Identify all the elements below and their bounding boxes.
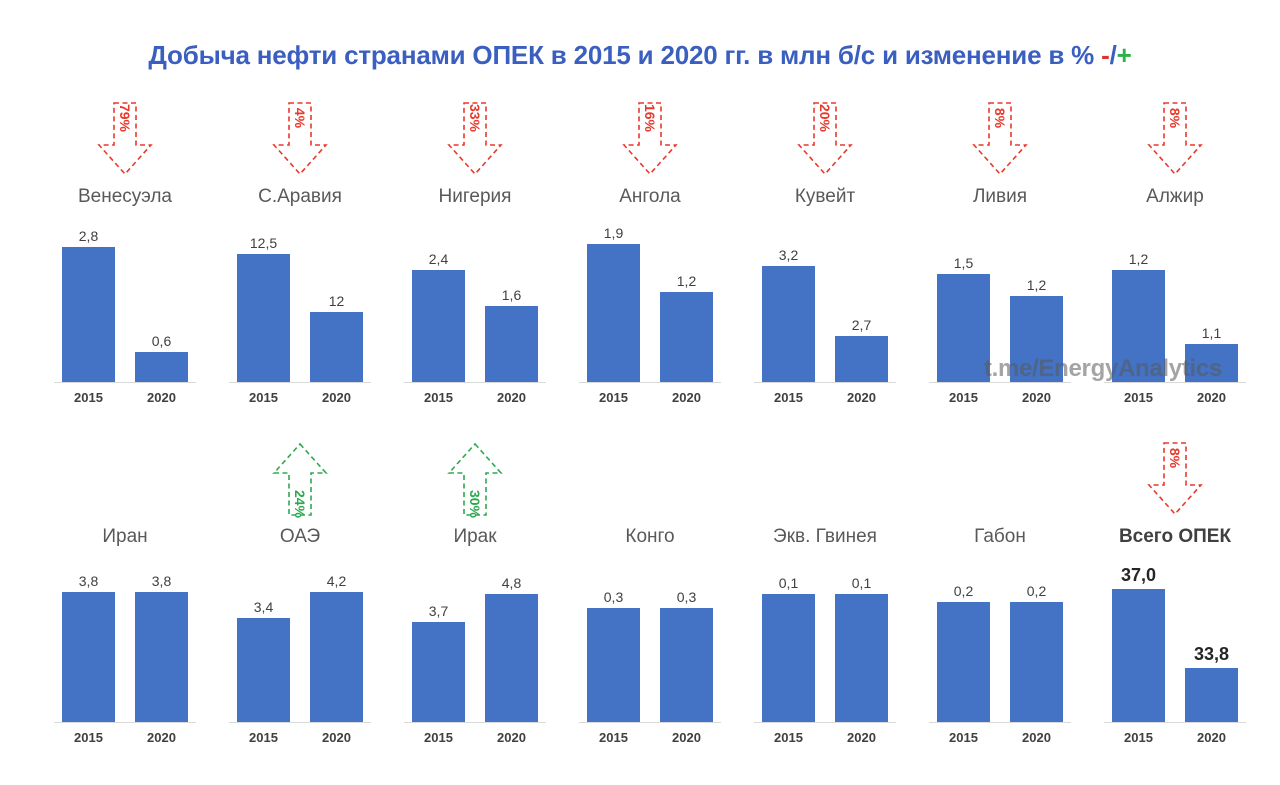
- mini-bar-chart: 3,74,8: [404, 558, 546, 723]
- axis-baseline: [54, 722, 196, 723]
- bar-2020[interactable]: [310, 312, 363, 382]
- year-label-2020: 2020: [660, 390, 713, 405]
- mini-bar-chart: 0,20,2: [929, 558, 1071, 723]
- bar-2020[interactable]: [485, 306, 538, 382]
- bar-value-label: 1,5: [925, 255, 1002, 271]
- country-name: Конго: [565, 526, 735, 548]
- mini-bar-chart: 3,44,2: [229, 558, 371, 723]
- year-label-2020: 2020: [135, 390, 188, 405]
- mini-bar-chart: 2,80,6: [54, 218, 196, 383]
- bar-value-label: 0,3: [575, 589, 652, 605]
- year-label-2015: 2015: [237, 730, 290, 745]
- year-label-2020: 2020: [485, 730, 538, 745]
- bar-2020[interactable]: [835, 336, 888, 382]
- country-panel: Экв. Гвинея0,10,120152020: [740, 440, 910, 770]
- year-label-2015: 2015: [412, 730, 465, 745]
- bar-2015[interactable]: [1112, 589, 1165, 722]
- title-positive-marker: +: [1117, 40, 1132, 70]
- title-separator: /: [1110, 40, 1117, 70]
- bar-value-label: 1,2: [998, 277, 1075, 293]
- bar-2015[interactable]: [762, 266, 815, 382]
- year-label-2015: 2015: [587, 730, 640, 745]
- country-panel: 30%Ирак3,74,820152020: [390, 440, 560, 770]
- arrow-up-icon: 24%: [269, 440, 331, 518]
- country-panel: 4%С.Аравия12,51220152020: [215, 100, 385, 430]
- year-label-2020: 2020: [485, 390, 538, 405]
- bar-value-label: 1,2: [648, 273, 725, 289]
- year-axis: 20152020: [754, 730, 896, 748]
- arrow-down-icon: 4%: [269, 100, 331, 178]
- country-name: Габон: [915, 526, 1085, 548]
- year-label-2015: 2015: [62, 730, 115, 745]
- mini-bar-chart: 3,83,8: [54, 558, 196, 723]
- country-panel: 8%Алжир1,21,120152020: [1090, 100, 1260, 430]
- axis-baseline: [579, 382, 721, 383]
- year-label-2015: 2015: [762, 730, 815, 745]
- mini-bar-chart: 1,91,2: [579, 218, 721, 383]
- arrow-down-icon: 8%: [1144, 100, 1206, 178]
- axis-baseline: [754, 382, 896, 383]
- country-name: Экв. Гвинея: [740, 526, 910, 548]
- page-title: Добыча нефти странами ОПЕК в 2015 и 2020…: [0, 40, 1280, 71]
- mini-bar-chart: 12,512: [229, 218, 371, 383]
- bar-value-label: 0,3: [648, 589, 725, 605]
- bar-2015[interactable]: [237, 618, 290, 722]
- bar-2015[interactable]: [62, 247, 115, 382]
- year-axis: 20152020: [229, 390, 371, 408]
- bar-value-label: 2,8: [50, 228, 127, 244]
- country-panel: 16%Ангола1,91,220152020: [565, 100, 735, 430]
- country-panel: 8%Ливия1,51,220152020: [915, 100, 1085, 430]
- arrow-down-icon: 79%: [94, 100, 156, 178]
- year-axis: 20152020: [754, 390, 896, 408]
- year-axis: 20152020: [929, 390, 1071, 408]
- country-name: Всего ОПЕК: [1090, 526, 1260, 548]
- bar-2015[interactable]: [587, 608, 640, 722]
- year-label-2020: 2020: [1185, 390, 1238, 405]
- country-name: С.Аравия: [215, 186, 385, 208]
- bar-2020[interactable]: [485, 594, 538, 722]
- bar-2020[interactable]: [1185, 344, 1238, 382]
- bar-value-label: 3,4: [225, 599, 302, 615]
- country-panel: 24%ОАЭ3,44,220152020: [215, 440, 385, 770]
- year-label-2015: 2015: [937, 390, 990, 405]
- year-label-2020: 2020: [660, 730, 713, 745]
- bar-value-label: 4,8: [473, 575, 550, 591]
- year-axis: 20152020: [1104, 390, 1246, 408]
- bar-value-label: 0,2: [998, 583, 1075, 599]
- arrow-down-icon: 8%: [1144, 440, 1206, 518]
- country-panel: Габон0,20,220152020: [915, 440, 1085, 770]
- bar-value-label: 0,6: [123, 333, 200, 349]
- year-label-2015: 2015: [412, 390, 465, 405]
- arrow-down-icon: 20%: [794, 100, 856, 178]
- bar-value-label: 3,7: [400, 603, 477, 619]
- bar-value-label: 4,2: [298, 573, 375, 589]
- bar-value-label: 37,0: [1100, 565, 1177, 586]
- axis-baseline: [929, 382, 1071, 383]
- bar-2015[interactable]: [237, 254, 290, 382]
- bar-value-label: 3,8: [123, 573, 200, 589]
- bar-2020[interactable]: [135, 352, 188, 382]
- mini-bar-chart: 2,41,6: [404, 218, 546, 383]
- year-label-2020: 2020: [835, 730, 888, 745]
- bar-value-label: 3,8: [50, 573, 127, 589]
- arrow-down-icon: 16%: [619, 100, 681, 178]
- country-panel: Конго0,30,320152020: [565, 440, 735, 770]
- bar-2015[interactable]: [62, 592, 115, 722]
- year-axis: 20152020: [229, 730, 371, 748]
- country-name: ОАЭ: [215, 526, 385, 548]
- arrow-up-icon: 30%: [444, 440, 506, 518]
- bar-2015[interactable]: [937, 274, 990, 382]
- arrow-down-icon: 8%: [969, 100, 1031, 178]
- year-label-2020: 2020: [1010, 730, 1063, 745]
- bar-2020[interactable]: [1010, 602, 1063, 722]
- country-name: Иран: [40, 526, 210, 548]
- bar-2020[interactable]: [660, 608, 713, 722]
- bar-value-label: 1,2: [1100, 251, 1177, 267]
- arrow-down-icon: 33%: [444, 100, 506, 178]
- axis-baseline: [929, 722, 1071, 723]
- bar-value-label: 1,6: [473, 287, 550, 303]
- year-axis: 20152020: [404, 730, 546, 748]
- country-panel: 79%Венесуэла2,80,620152020: [40, 100, 210, 430]
- country-name: Венесуэла: [40, 186, 210, 208]
- country-name: Ангола: [565, 186, 735, 208]
- axis-baseline: [404, 382, 546, 383]
- year-label-2020: 2020: [310, 730, 363, 745]
- year-axis: 20152020: [579, 390, 721, 408]
- axis-baseline: [754, 722, 896, 723]
- mini-bar-chart: 0,10,1: [754, 558, 896, 723]
- bar-2015[interactable]: [587, 244, 640, 382]
- year-label-2015: 2015: [937, 730, 990, 745]
- country-panel: Иран3,83,820152020: [40, 440, 210, 770]
- year-axis: 20152020: [54, 390, 196, 408]
- mini-bar-chart: 3,22,7: [754, 218, 896, 383]
- mini-bar-chart: 1,21,1: [1104, 218, 1246, 383]
- title-negative-marker: -: [1101, 40, 1109, 70]
- bar-value-label: 1,1: [1173, 325, 1250, 341]
- year-label-2020: 2020: [1185, 730, 1238, 745]
- title-text: Добыча нефти странами ОПЕК в 2015 и 2020…: [148, 40, 1101, 70]
- year-label-2020: 2020: [835, 390, 888, 405]
- bar-2020[interactable]: [1010, 296, 1063, 382]
- year-label-2015: 2015: [762, 390, 815, 405]
- mini-bar-chart: 1,51,2: [929, 218, 1071, 383]
- bar-2015[interactable]: [412, 622, 465, 722]
- bar-2015[interactable]: [762, 594, 815, 722]
- country-name: Нигерия: [390, 186, 560, 208]
- country-name: Кувейт: [740, 186, 910, 208]
- mini-bar-chart: 0,30,3: [579, 558, 721, 723]
- bar-2015[interactable]: [412, 270, 465, 382]
- axis-baseline: [229, 722, 371, 723]
- axis-baseline: [404, 722, 546, 723]
- bar-value-label: 0,2: [925, 583, 1002, 599]
- bar-2020[interactable]: [135, 592, 188, 722]
- country-name: Ирак: [390, 526, 560, 548]
- country-name: Алжир: [1090, 186, 1260, 208]
- axis-baseline: [1104, 722, 1246, 723]
- country-panel: 8%Всего ОПЕК37,033,820152020: [1090, 440, 1260, 770]
- year-label-2020: 2020: [1010, 390, 1063, 405]
- axis-baseline: [1104, 382, 1246, 383]
- chart-canvas: Добыча нефти странами ОПЕК в 2015 и 2020…: [0, 0, 1280, 785]
- axis-baseline: [229, 382, 371, 383]
- bar-2015[interactable]: [937, 602, 990, 722]
- year-axis: 20152020: [929, 730, 1071, 748]
- bar-value-label: 33,8: [1173, 644, 1250, 665]
- bar-value-label: 1,9: [575, 225, 652, 241]
- bar-2020[interactable]: [310, 592, 363, 722]
- year-label-2015: 2015: [1112, 390, 1165, 405]
- country-panel: 20%Кувейт3,22,720152020: [740, 100, 910, 430]
- year-label-2015: 2015: [587, 390, 640, 405]
- bar-value-label: 0,1: [823, 575, 900, 591]
- country-name: Ливия: [915, 186, 1085, 208]
- year-label-2020: 2020: [310, 390, 363, 405]
- year-label-2015: 2015: [237, 390, 290, 405]
- country-panel: 33%Нигерия2,41,620152020: [390, 100, 560, 430]
- bar-value-label: 3,2: [750, 247, 827, 263]
- year-axis: 20152020: [579, 730, 721, 748]
- year-label-2015: 2015: [1112, 730, 1165, 745]
- mini-bar-chart: 37,033,8: [1104, 558, 1246, 723]
- bar-value-label: 2,7: [823, 317, 900, 333]
- year-label-2020: 2020: [135, 730, 188, 745]
- bar-2020[interactable]: [1185, 668, 1238, 722]
- bar-2020[interactable]: [660, 292, 713, 382]
- bar-value-label: 12,5: [225, 235, 302, 251]
- year-label-2015: 2015: [62, 390, 115, 405]
- year-axis: 20152020: [1104, 730, 1246, 748]
- bar-value-label: 12: [298, 293, 375, 309]
- year-axis: 20152020: [404, 390, 546, 408]
- axis-baseline: [54, 382, 196, 383]
- bar-value-label: 0,1: [750, 575, 827, 591]
- year-axis: 20152020: [54, 730, 196, 748]
- bar-value-label: 2,4: [400, 251, 477, 267]
- bar-2015[interactable]: [1112, 270, 1165, 382]
- bar-2020[interactable]: [835, 594, 888, 722]
- axis-baseline: [579, 722, 721, 723]
